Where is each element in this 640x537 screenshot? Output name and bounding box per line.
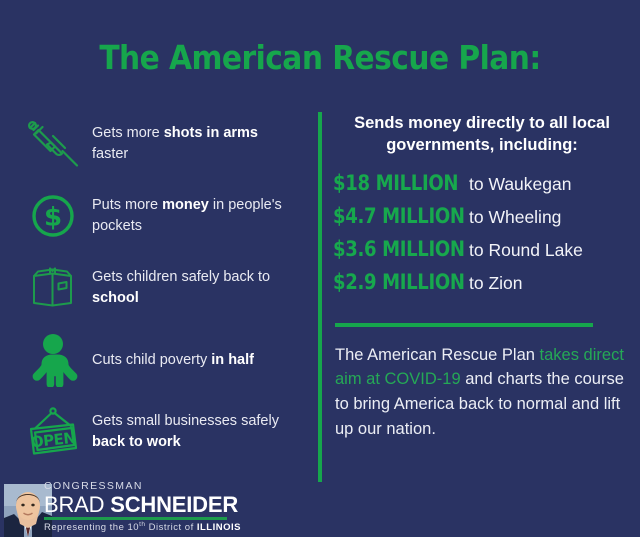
list-item-label: Gets children safely back to school [92,267,282,308]
list-item: $3.6 MILLION to Round Lake [333,237,631,270]
grant-amount: $3.6 MILLION [333,237,450,261]
list-item: $18 MILLION to Waukegan [333,171,631,204]
grant-amount: $4.7 MILLION [333,204,450,228]
list-item-label: Puts more money in people's pockets [92,195,282,236]
funding-panel: Sends money directly to all local govern… [333,112,631,442]
funding-heading: Sends money directly to all local govern… [333,112,631,157]
logo-subtitle-pre: Representing the 10 [44,522,139,533]
list-item-label: Cuts child poverty in half [92,350,254,371]
section-divider [335,323,593,327]
benefits-list: Gets more shots in arms faster $ Puts mo… [14,108,314,468]
grant-city: to Wheeling [469,207,561,228]
logo-text: CONGRESSMAN BRAD SCHNEIDER Representing … [44,481,294,533]
grant-amount: $2.9 MILLION [333,270,450,294]
grants-list: $18 MILLION to Waukegan $4.7 MILLION to … [333,171,631,303]
grant-amount: $18 MILLION [333,171,450,195]
list-item: Cuts child poverty in half [14,324,314,396]
logo-name: BRAD SCHNEIDER [44,493,294,516]
logo-subtitle: Representing the 10th District of ILLINO… [44,521,294,533]
list-item: $2.9 MILLION to Zion [333,270,631,303]
page-title: The American Rescue Plan: [32,38,608,77]
grant-city: to Zion [469,273,523,294]
closing-statement: The American Rescue Plan takes direct ai… [333,343,631,442]
list-item-label: Gets more shots in arms faster [92,123,282,164]
footer-logo-bar: CONGRESSMAN BRAD SCHNEIDER Representing … [0,484,640,537]
list-item: Gets children safely back to school [14,252,314,324]
logo-underline [44,517,227,520]
logo-first-name: BRAD [44,492,104,517]
grant-city: to Waukegan [469,174,571,195]
dollar-circle-icon: $ [14,191,92,241]
child-figure-icon [14,333,92,387]
list-item: Gets more shots in arms faster [14,108,314,180]
list-item: $ Puts more money in people's pockets [14,180,314,252]
list-item: $4.7 MILLION to Wheeling [333,204,631,237]
logo-last-name: SCHNEIDER [110,492,238,517]
infographic-poster: The American Rescue Plan: [0,0,640,537]
logo-subtitle-state: ILLINOIS [197,522,241,533]
list-item-label: Gets small businesses safely back to wor… [92,411,282,452]
closing-part: The American Rescue Plan [335,346,540,364]
logo-subtitle-mid: District of [145,522,196,533]
open-sign-icon: OPEN [14,405,92,459]
list-item: OPEN Gets small businesses safely back t… [14,396,314,468]
grant-city: to Round Lake [469,240,583,261]
syringe-icon [14,119,92,169]
open-book-icon [14,264,92,312]
svg-text:$: $ [44,203,62,233]
column-divider [318,112,322,482]
